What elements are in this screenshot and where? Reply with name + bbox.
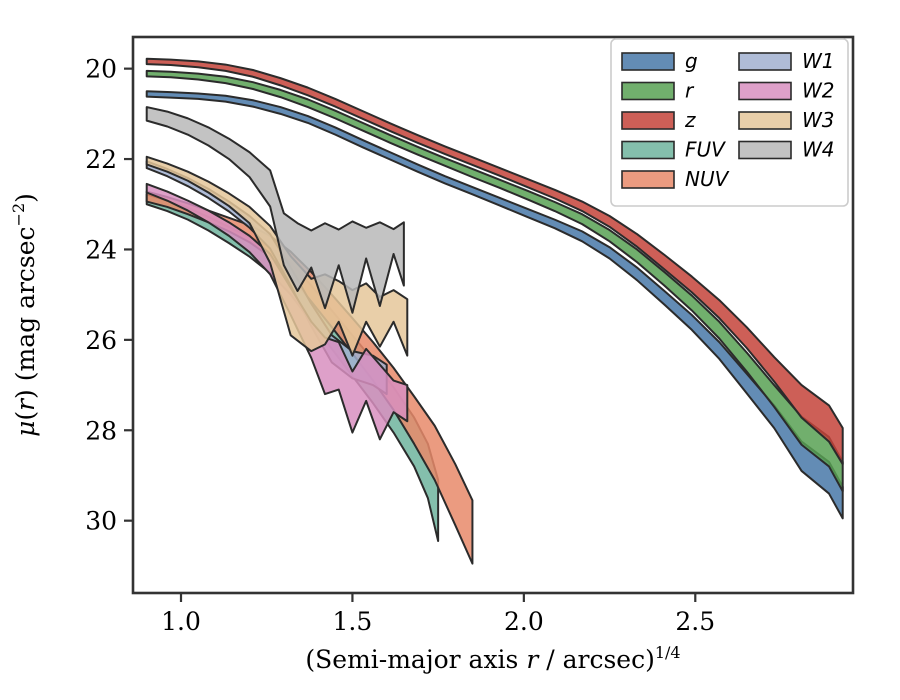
y-axis-title-units: ) (mag arcsec — [11, 226, 40, 399]
legend-swatch-r[interactable] — [622, 83, 674, 100]
legend-label-w4: W4 — [802, 138, 835, 162]
legend-label-nuv: NUV — [685, 167, 730, 191]
x-axis-title: (Semi-major axis r / arcsec)1/4 — [305, 643, 680, 674]
figure-canvas: 1.01.52.02.5 202224262830 (Semi-major ax… — [0, 0, 900, 700]
x-tick-label: 2.0 — [504, 607, 544, 636]
legend-label-w1: W1 — [802, 49, 835, 73]
y-tick-label: 20 — [85, 55, 117, 84]
y-tick-label: 26 — [85, 326, 117, 355]
surface-brightness-profile-chart: 1.01.52.02.5 202224262830 (Semi-major ax… — [0, 0, 900, 700]
y-axis-title-paren: ( — [11, 411, 40, 421]
x-tick-label: 1.5 — [333, 607, 373, 636]
x-axis-title-main: (Semi-major axis — [305, 645, 526, 674]
y-tick-label: 22 — [85, 145, 117, 174]
legend-label-fuv: FUV — [685, 138, 726, 162]
x-tick-label: 2.5 — [675, 607, 715, 636]
legend-label-w2: W2 — [802, 79, 835, 103]
legend-swatch-fuv[interactable] — [622, 142, 674, 159]
y-axis-title: μ(r) (mag arcsec−2) — [9, 193, 40, 437]
legend-swatch-w1[interactable] — [739, 53, 791, 70]
y-tick-label: 24 — [85, 235, 117, 264]
y-tick-label: 28 — [85, 416, 117, 445]
x-axis-title-tail: / arcsec) — [538, 645, 655, 674]
legend-swatch-w2[interactable] — [739, 83, 791, 100]
y-axis-title-exponent: −2 — [9, 203, 28, 227]
x-axis-title-exponent: 1/4 — [655, 643, 681, 662]
legend-swatch-z[interactable] — [622, 112, 674, 129]
legend-label-g: g — [685, 49, 698, 73]
legend-label-z: z — [684, 108, 696, 132]
legend-swatch-w3[interactable] — [739, 112, 791, 129]
y-tick-label: 30 — [85, 507, 117, 536]
legend-label-w3: W3 — [802, 108, 835, 132]
legend-swatch-g[interactable] — [622, 53, 674, 70]
y-axis-title-mu: μ — [11, 421, 40, 437]
x-tick-label: 1.0 — [161, 607, 201, 636]
legend-swatch-nuv[interactable] — [622, 171, 674, 188]
y-axis-title-close: ) — [11, 193, 40, 203]
legend-swatch-w4[interactable] — [739, 142, 791, 159]
legend[interactable]: grzFUVNUVW1W2W3W4 — [611, 39, 848, 206]
